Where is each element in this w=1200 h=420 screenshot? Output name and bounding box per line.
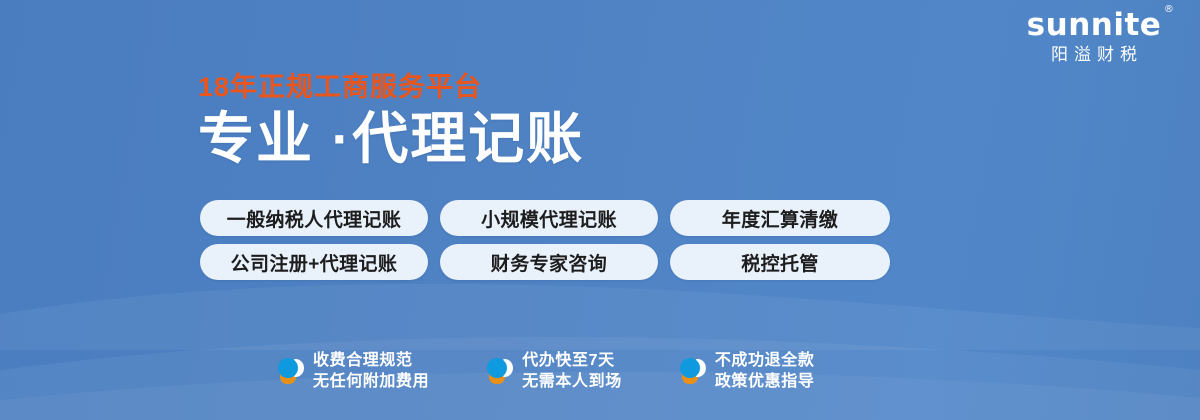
service-pill[interactable]: 年度汇算清缴 [670,200,890,236]
service-pill-list: 一般纳税人代理记账 小规模代理记账 年度汇算清缴 公司注册+代理记账 财务专家咨… [200,200,890,288]
service-pill-row: 一般纳税人代理记账 小规模代理记账 年度汇算清缴 [200,200,890,236]
feature-item: 收费合理规范 无任何附加费用 [278,350,429,392]
registered-trademark-icon: ® [1164,5,1175,15]
feature-line-2: 无任何附加费用 [313,373,429,390]
service-pill[interactable]: 小规模代理记账 [440,200,658,236]
feature-text: 收费合理规范 无任何附加费用 [313,350,429,392]
company-logo[interactable]: sunnite ® 阳溢财税 [1004,8,1184,66]
service-pill[interactable]: 一般纳税人代理记账 [200,200,428,236]
service-pill[interactable]: 财务专家咨询 [440,244,658,280]
logo-chinese-name: 阳溢财税 [1004,44,1184,66]
circle-cup-icon [487,356,513,386]
feature-item: 代办快至7天 无需本人到场 [487,350,622,392]
logo-wordmark-text: sunnite [1027,7,1162,43]
service-pill[interactable]: 公司注册+代理记账 [200,244,428,280]
feature-line-2: 政策优惠指导 [715,373,815,390]
logo-wordmark: sunnite ® [1027,8,1162,42]
hero-headline: 专业 ·代理记账 [198,108,958,170]
dot-shape [680,358,700,378]
feature-line-2: 无需本人到场 [522,373,622,390]
circle-cup-icon [278,356,304,386]
service-pill[interactable]: 税控托管 [670,244,890,280]
feature-line-1: 代办快至7天 [522,352,615,369]
circle-cup-icon [680,356,706,386]
feature-list: 收费合理规范 无任何附加费用 代办快至7天 无需本人到场 不成功退全款 [278,350,814,392]
feature-line-1: 收费合理规范 [313,352,413,369]
feature-item: 不成功退全款 政策优惠指导 [680,350,815,392]
feature-line-1: 不成功退全款 [715,352,815,369]
service-pill-row: 公司注册+代理记账 财务专家咨询 税控托管 [200,244,890,280]
dot-shape [278,358,298,378]
hero-kicker: 18年正规工商服务平台 [198,72,958,102]
feature-text: 不成功退全款 政策优惠指导 [715,350,815,392]
hero-copy: 18年正规工商服务平台 专业 ·代理记账 [198,72,958,170]
feature-text: 代办快至7天 无需本人到场 [522,350,622,392]
promotional-banner: sunnite ® 阳溢财税 18年正规工商服务平台 专业 ·代理记账 一般纳税… [0,0,1200,420]
